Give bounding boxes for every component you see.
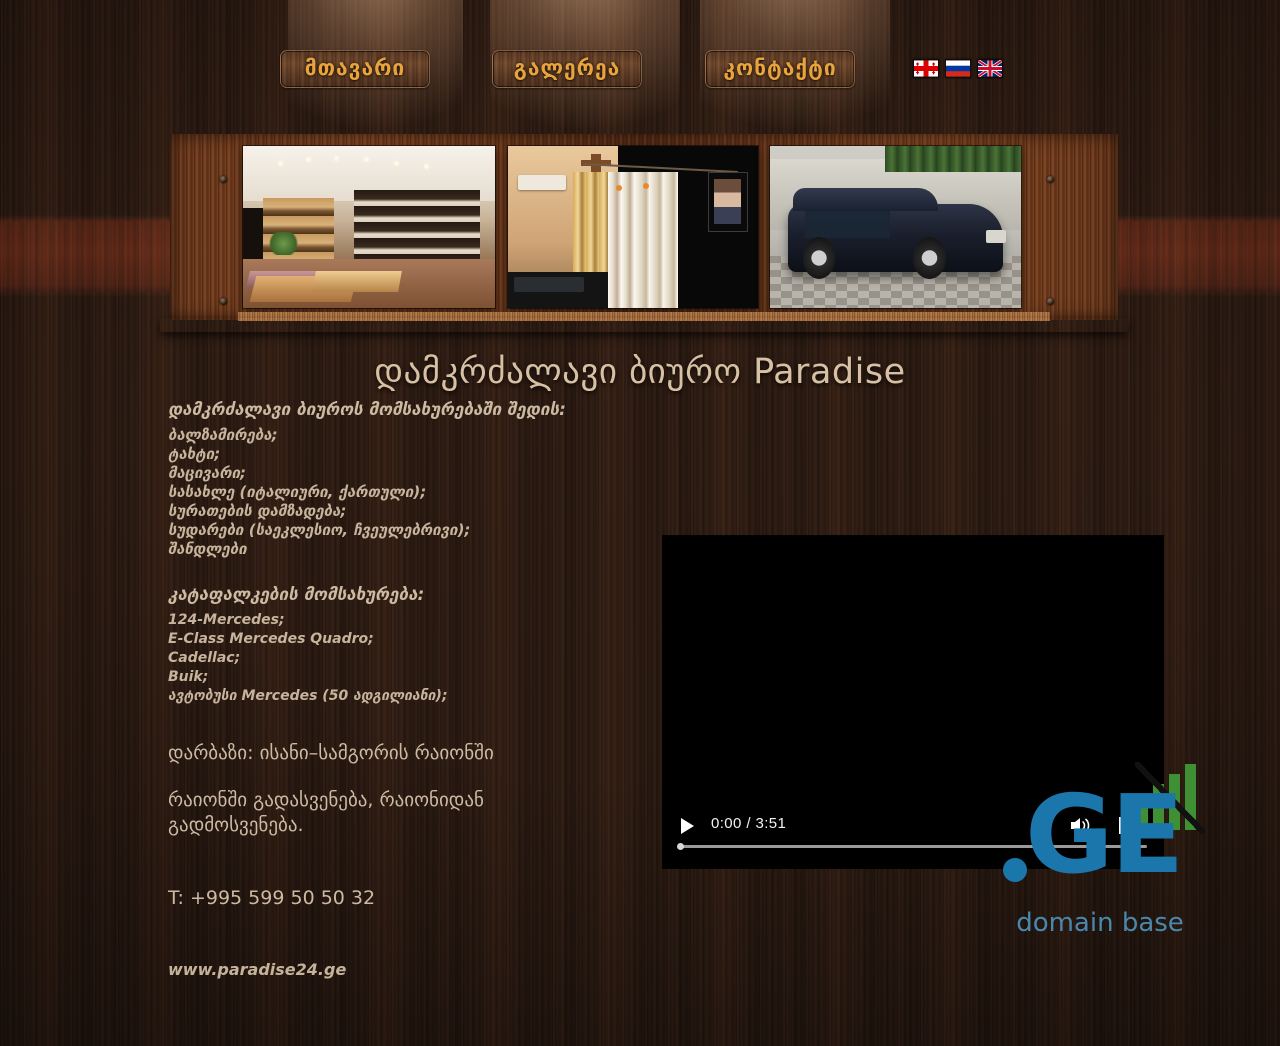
list-item: შანდლები [168, 540, 668, 559]
list-item: Cadellac; [168, 649, 668, 668]
list-item: მაცივარი; [168, 464, 668, 483]
catafalque-header: კატაფალკების მომსახურება: [168, 585, 668, 605]
list-item: E-Class Mercedes Quadro; [168, 630, 668, 649]
language-switcher [913, 59, 1003, 78]
shelf-screw [220, 298, 227, 305]
gallery-photo-shrouds[interactable] [508, 146, 758, 308]
georgia-flag-icon[interactable] [913, 59, 939, 78]
phone-number: T: +995 599 50 50 32 [168, 886, 568, 911]
services-column: დამკრძალავი ბიუროს მომსახურებაში შედის: … [168, 400, 668, 706]
services-lead: დამკრძალავი ბიუროს მომსახურებაში შედის: [168, 400, 668, 420]
gallery-photo-hearse[interactable] [770, 146, 1021, 308]
nav-item-contact[interactable]: კონტაქტი [705, 50, 855, 88]
video-time-display: 0:00 / 3:51 [711, 815, 786, 832]
shelf-screw [220, 176, 227, 183]
services-list: ბალზამირება; ტახტი; მაცივარი; სასახლე (ი… [168, 426, 668, 559]
website-url[interactable]: www.paradise24.ge [168, 957, 568, 982]
list-item: სასახლე (იტალიური, ქართული); [168, 483, 668, 502]
service-note: რაიონში გადასვენება, რაიონიდან გადმოსვენ… [168, 788, 664, 838]
volume-icon[interactable] [1069, 816, 1091, 835]
play-icon[interactable] [681, 818, 694, 834]
address-text: დარბაზი: ისანი–სამგორის რაიონში [168, 741, 668, 766]
uk-flag-icon[interactable] [977, 59, 1003, 78]
fullscreen-icon[interactable] [1119, 817, 1136, 834]
shelf-screw [1047, 176, 1054, 183]
nav-item-home[interactable]: მთავარი [280, 50, 430, 88]
service-note-line2: გადმოსვენება. [168, 813, 664, 838]
list-item: Buik; [168, 668, 668, 687]
gallery-photo-showroom[interactable] [243, 146, 495, 308]
shelf-screw [1047, 298, 1054, 305]
list-item: ბალზამირება; [168, 426, 668, 445]
list-item: ავტობუსი Mercedes (50 ადგილიანი); [168, 687, 668, 706]
video-progress-knob[interactable] [677, 843, 684, 850]
list-item: 124-Mercedes; [168, 611, 668, 630]
gallery-shelf [170, 134, 1118, 330]
service-note-line1: რაიონში გადასვენება, რაიონიდან [168, 789, 484, 811]
page-title: დამკრძალავი ბიურო Paradise [0, 352, 1280, 392]
section-spacer [168, 559, 668, 585]
video-player[interactable]: 0:00 / 3:51 [663, 536, 1163, 868]
shelf-base-board [160, 318, 1128, 332]
list-item: სუდარები (საეკლესიო, ჩვეულებრივი); [168, 521, 668, 540]
nav-item-gallery[interactable]: გალერეა [492, 50, 642, 88]
main-navigation: მთავარი გალერეა კონტაქტი [0, 50, 1280, 92]
list-item: სურათების დამზადება; [168, 502, 668, 521]
russia-flag-icon[interactable] [945, 59, 971, 78]
catafalque-list: 124-Mercedes; E-Class Mercedes Quadro; C… [168, 611, 668, 706]
list-item: ტახტი; [168, 445, 668, 464]
video-controls: 0:00 / 3:51 [663, 806, 1163, 868]
video-progress-bar[interactable] [679, 845, 1147, 848]
